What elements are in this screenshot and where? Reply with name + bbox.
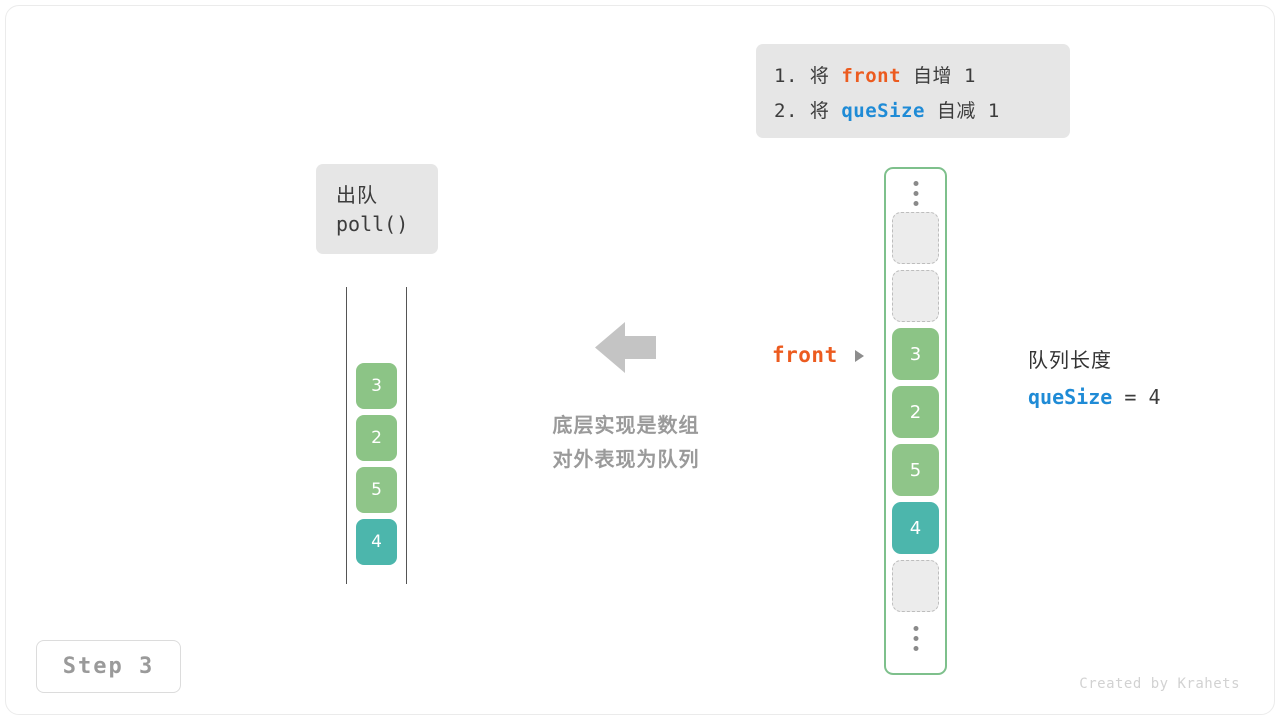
queue-cell-value: 3 [371, 376, 382, 396]
queue-size-value: 4 [1148, 385, 1160, 409]
vertical-dots-icon-bottom [913, 626, 918, 651]
op-line-2-post: 自减 [937, 100, 976, 122]
queue-size-var: queSize [1028, 385, 1112, 409]
queue-size-expression: queSize = 4 [1028, 379, 1160, 416]
array-cell-empty [892, 560, 939, 612]
step-badge-label: Step 3 [63, 654, 154, 679]
queue-rail-right [406, 287, 407, 584]
array-cell: 2 [892, 386, 939, 438]
op-line-1-code: front [841, 65, 901, 87]
array-cell: 3 [892, 328, 939, 380]
array-backing-view: 3254 [884, 167, 947, 675]
op-line-1-pre: 将 [810, 65, 830, 87]
vertical-dots-icon-top [913, 181, 918, 206]
step-badge: Step 3 [36, 640, 181, 693]
array-cell-value: 2 [910, 402, 921, 423]
queue-cell-value: 2 [371, 428, 382, 448]
op-line-2-pre: 将 [810, 100, 830, 122]
poll-box-title: 出队 [336, 181, 438, 210]
poll-box-method: poll() [336, 210, 438, 239]
queue-size-annotation: 队列长度 queSize = 4 [1028, 342, 1160, 416]
op-line-1-post: 自增 [913, 65, 952, 87]
queue-cell: 3 [356, 363, 397, 409]
array-cell-value: 3 [910, 344, 921, 365]
array-cell: 5 [892, 444, 939, 496]
poll-operation-box: 出队 poll() [316, 164, 438, 254]
queue-rail-left [346, 287, 347, 584]
queue-cell-value: 5 [371, 480, 382, 500]
left-arrow-icon [595, 322, 656, 373]
diagram-canvas: 1. 将 front 自增 1 2. 将 queSize 自减 1 出队 pol… [0, 0, 1280, 720]
queue-size-equals: = [1124, 385, 1136, 409]
op-line-2-num: 1 [988, 100, 1000, 122]
queue-abstract-view: 3254 [346, 287, 408, 584]
operation-note-line-1: 1. 将 front 自增 1 [774, 59, 1070, 94]
queue-size-title: 队列长度 [1028, 342, 1160, 379]
centre-caption: 底层实现是数组 对外表现为队列 [516, 408, 736, 476]
triangle-right-icon [855, 350, 864, 362]
queue-cell: 5 [356, 467, 397, 513]
centre-caption-line-1: 底层实现是数组 [516, 408, 736, 442]
operation-note-line-2: 2. 将 queSize 自减 1 [774, 94, 1070, 129]
array-cell-empty [892, 212, 939, 264]
array-cell-value: 5 [910, 460, 921, 481]
operation-note: 1. 将 front 自增 1 2. 将 queSize 自减 1 [756, 44, 1070, 138]
op-line-2-code: queSize [841, 100, 925, 122]
op-line-2-index: 2. [774, 100, 798, 122]
array-cell: 4 [892, 502, 939, 554]
array-cell-empty [892, 270, 939, 322]
queue-cell-value: 4 [371, 532, 382, 552]
op-line-1-num: 1 [964, 65, 976, 87]
array-cell-value: 4 [910, 518, 921, 539]
queue-cell: 4 [356, 519, 397, 565]
centre-caption-line-2: 对外表现为队列 [516, 442, 736, 476]
credit-text: Created by Krahets [1079, 676, 1240, 692]
op-line-1-index: 1. [774, 65, 798, 87]
queue-cell: 2 [356, 415, 397, 461]
front-pointer-label: front [772, 343, 838, 367]
